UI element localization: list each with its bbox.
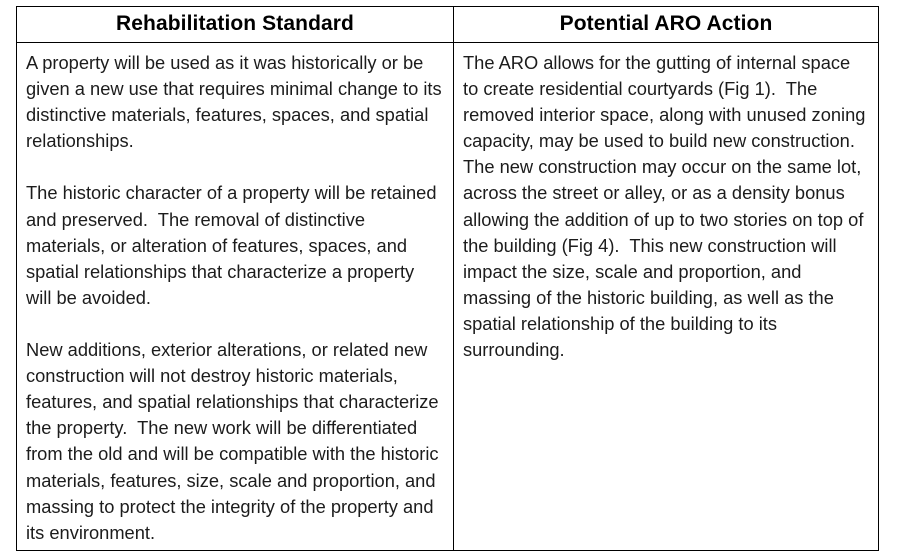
cell-potential-aro-action: The ARO allows for the gutting of intern…: [454, 43, 879, 551]
paragraph: The historic character of a property wil…: [26, 180, 444, 310]
table-header-row: Rehabilitation Standard Potential ARO Ac…: [17, 7, 879, 43]
table-header: Rehabilitation Standard Potential ARO Ac…: [17, 7, 879, 43]
cell-rehabilitation-standard: A property will be used as it was histor…: [17, 43, 454, 551]
document-page: Rehabilitation Standard Potential ARO Ac…: [0, 0, 906, 547]
paragraph: New additions, exterior alterations, or …: [26, 337, 444, 546]
comparison-table: Rehabilitation Standard Potential ARO Ac…: [16, 6, 879, 551]
table-body: A property will be used as it was histor…: [17, 43, 879, 551]
column-header-potential-aro-action: Potential ARO Action: [454, 7, 879, 43]
column-header-rehabilitation-standard: Rehabilitation Standard: [17, 7, 454, 43]
paragraph: The ARO allows for the gutting of intern…: [463, 50, 869, 363]
table-row: A property will be used as it was histor…: [17, 43, 879, 551]
paragraph: A property will be used as it was histor…: [26, 50, 444, 154]
